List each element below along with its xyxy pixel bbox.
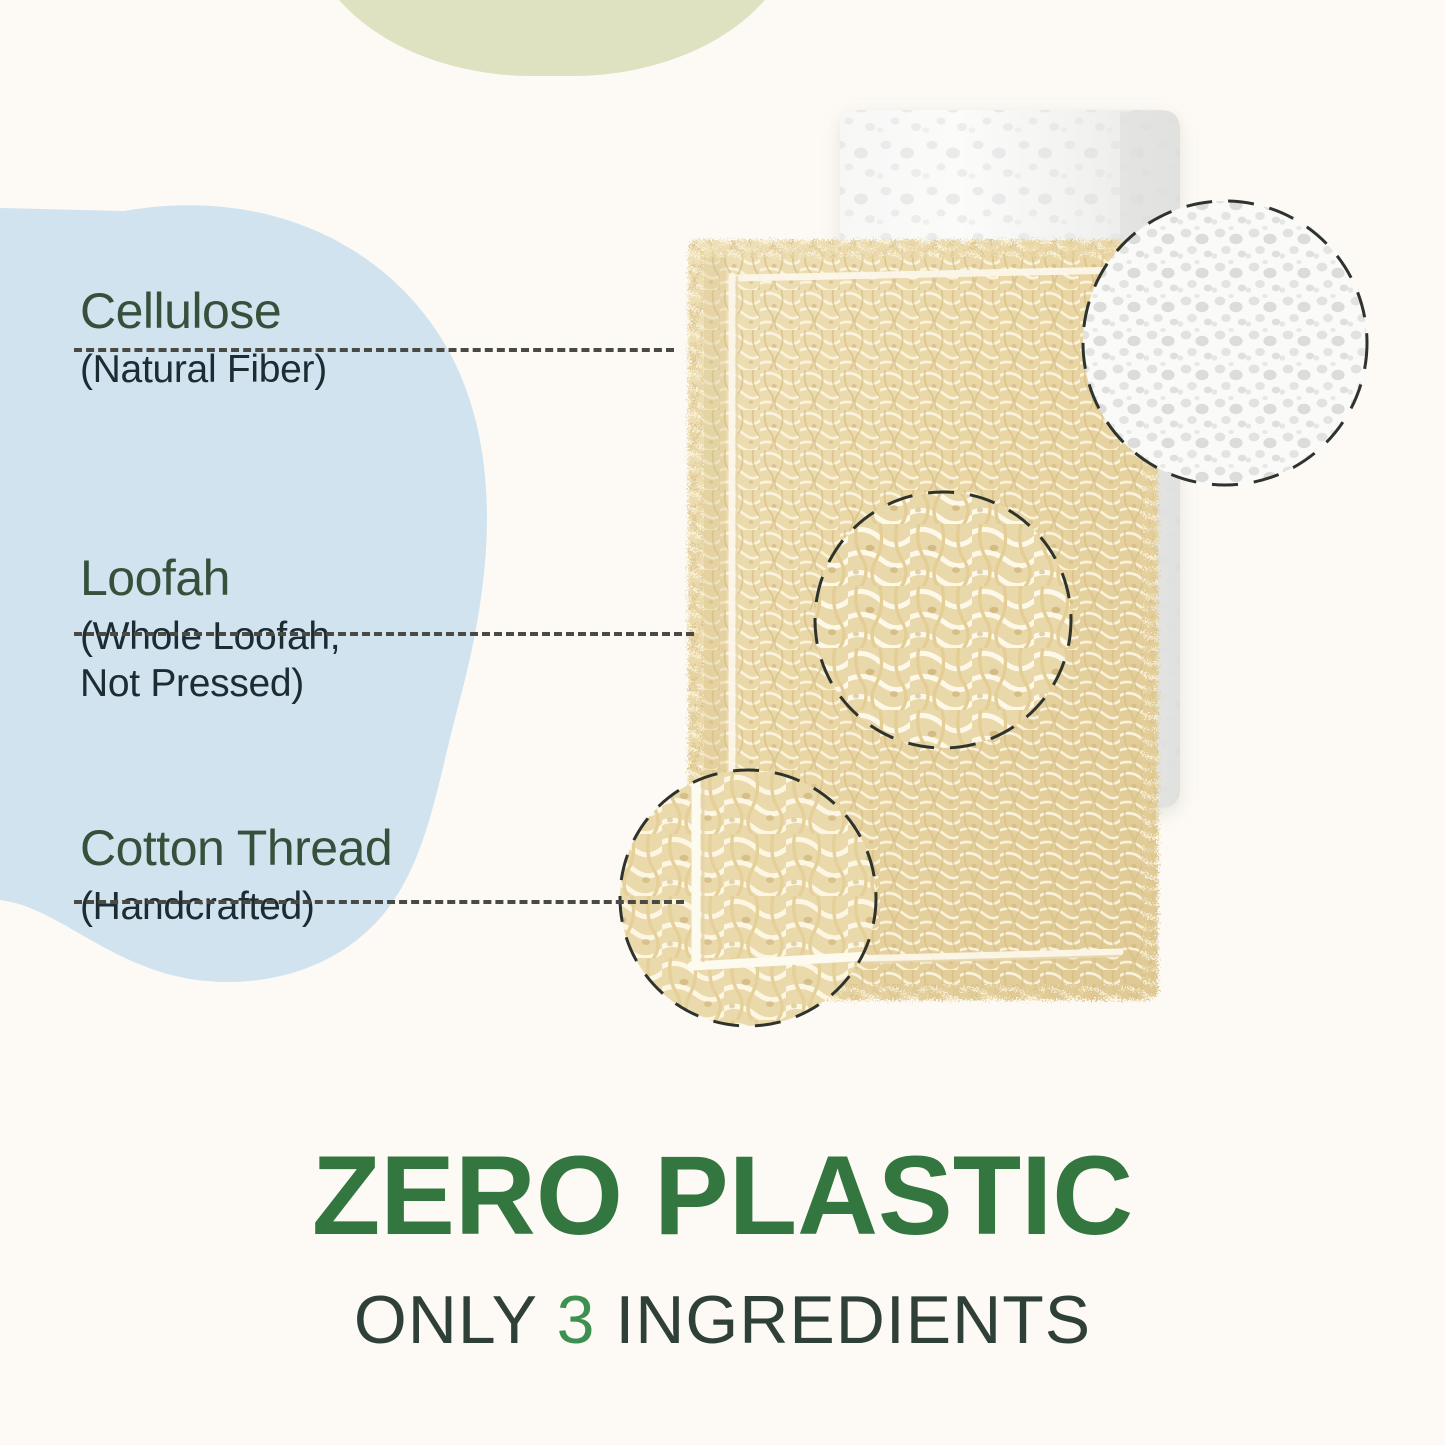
connector-line-loofah [74,632,694,636]
ingredient-subtitle-loofah: (Whole Loofah, Not Pressed) [80,613,340,708]
ingredient-subtitle-cellulose: (Natural Fiber) [80,346,327,394]
green-blob-decoration [306,0,798,76]
connector-line-cotton [74,900,684,904]
connector-line-cellulose [74,348,674,352]
ingredient-title-cellulose: Cellulose [80,285,327,338]
ingredient-subtitle-cotton: (Handcrafted) [80,883,392,931]
headline-ingredient-count: 3 [557,1282,596,1358]
ingredient-title-loofah: Loofah [80,552,340,605]
ingredient-title-cotton: Cotton Thread [80,822,392,875]
ingredient-label-cellulose: Cellulose (Natural Fiber) [80,285,327,393]
ingredient-label-loofah: Loofah (Whole Loofah, Not Pressed) [80,552,340,708]
headline-only-ingredients: ONLY 3 INGREDIENTS [0,1286,1445,1354]
headline-suffix: INGREDIENTS [596,1282,1092,1358]
headline-prefix: ONLY [354,1282,557,1358]
headline-zero-plastic: ZERO PLASTIC [0,1140,1445,1252]
headline-block: ZERO PLASTIC ONLY 3 INGREDIENTS [0,1140,1445,1354]
product-photo [600,90,1420,1050]
ingredient-label-cotton: Cotton Thread (Handcrafted) [80,822,392,930]
infographic-canvas: Cellulose (Natural Fiber) Loofah (Whole … [0,0,1445,1445]
